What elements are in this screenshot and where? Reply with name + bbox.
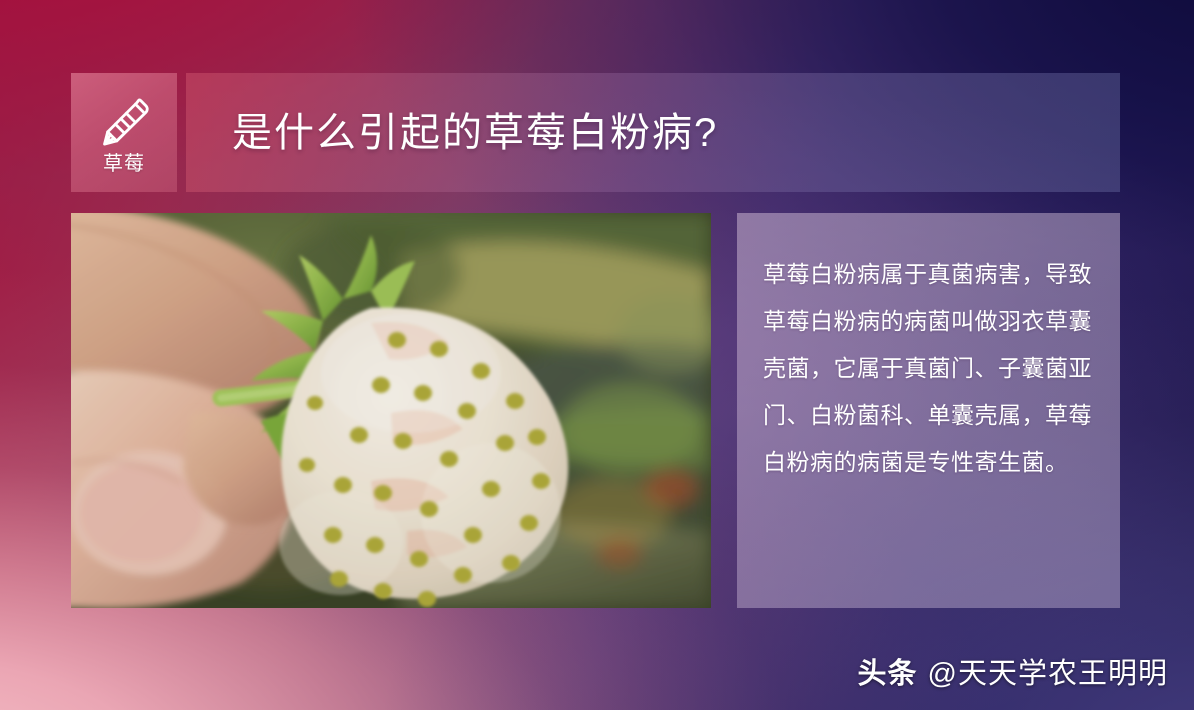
category-label: 草莓 [103, 154, 145, 174]
slide-card: 草莓 是什么引起的草莓白粉病? [0, 0, 1194, 710]
category-tile[interactable]: 草莓 [71, 73, 177, 192]
strawberry-powdery-mildew-image [71, 213, 711, 608]
page-title: 是什么引起的草莓白粉病? [186, 111, 718, 155]
pencil-icon [94, 92, 154, 150]
watermark-brand: 头条 [858, 650, 918, 692]
watermark-handle: @天天学农王明明 [928, 650, 1168, 692]
article-photo [71, 213, 711, 608]
watermark: 头条 @天天学农王明明 [858, 650, 1168, 692]
body-text-panel: 草莓白粉病属于真菌病害，导致草莓白粉病的病菌叫做羽衣草囊壳菌，它属于真菌门、子囊… [737, 213, 1120, 608]
body-text: 草莓白粉病属于真菌病害，导致草莓白粉病的病菌叫做羽衣草囊壳菌，它属于真菌门、子囊… [763, 251, 1094, 486]
title-bar: 是什么引起的草莓白粉病? [186, 73, 1120, 192]
